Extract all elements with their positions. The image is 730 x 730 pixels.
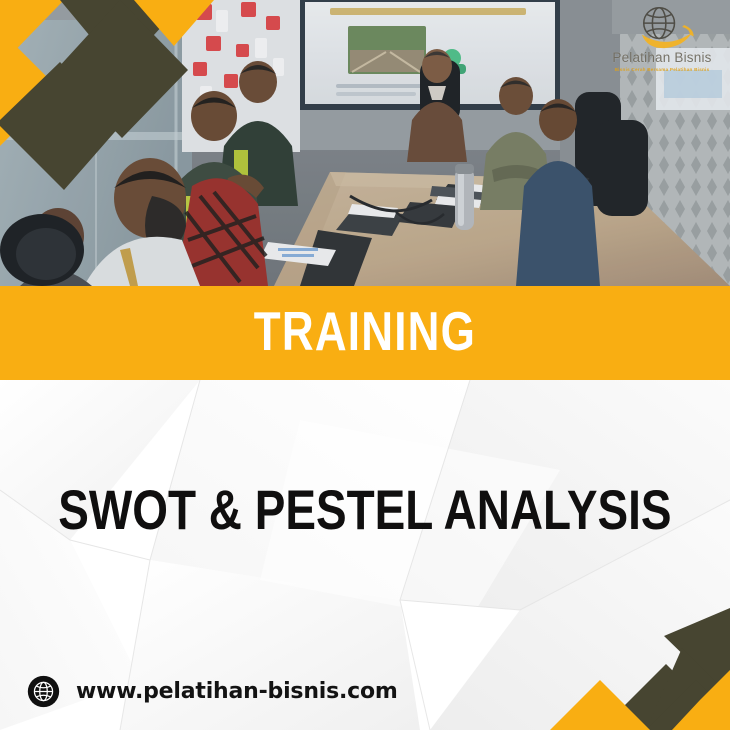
logo-brand-name: Pelatihan Bisnis (608, 51, 716, 65)
footer-website[interactable]: www.pelatihan-bisnis.com (27, 675, 398, 708)
poster-canvas: Pelatihan Bisnis Bisnis Cerah Bersama Pe… (0, 0, 730, 730)
logo-tagline: Bisnis Cerah Bersama Pelatihan Bisnis (608, 67, 716, 73)
page-title: SWOT & PESTEL ANALYSIS (58, 482, 671, 538)
website-url[interactable]: www.pelatihan-bisnis.com (76, 681, 398, 703)
main-title-area: SWOT & PESTEL ANALYSIS (0, 380, 730, 640)
banner-label: TRAINING (254, 304, 476, 362)
training-banner: TRAINING (0, 286, 730, 380)
brand-logo: Pelatihan Bisnis Bisnis Cerah Bersama Pe… (608, 2, 716, 78)
globe-icon (27, 675, 60, 708)
header-photo: Pelatihan Bisnis Bisnis Cerah Bersama Pe… (0, 0, 730, 286)
globe-swoosh-icon (608, 2, 716, 50)
